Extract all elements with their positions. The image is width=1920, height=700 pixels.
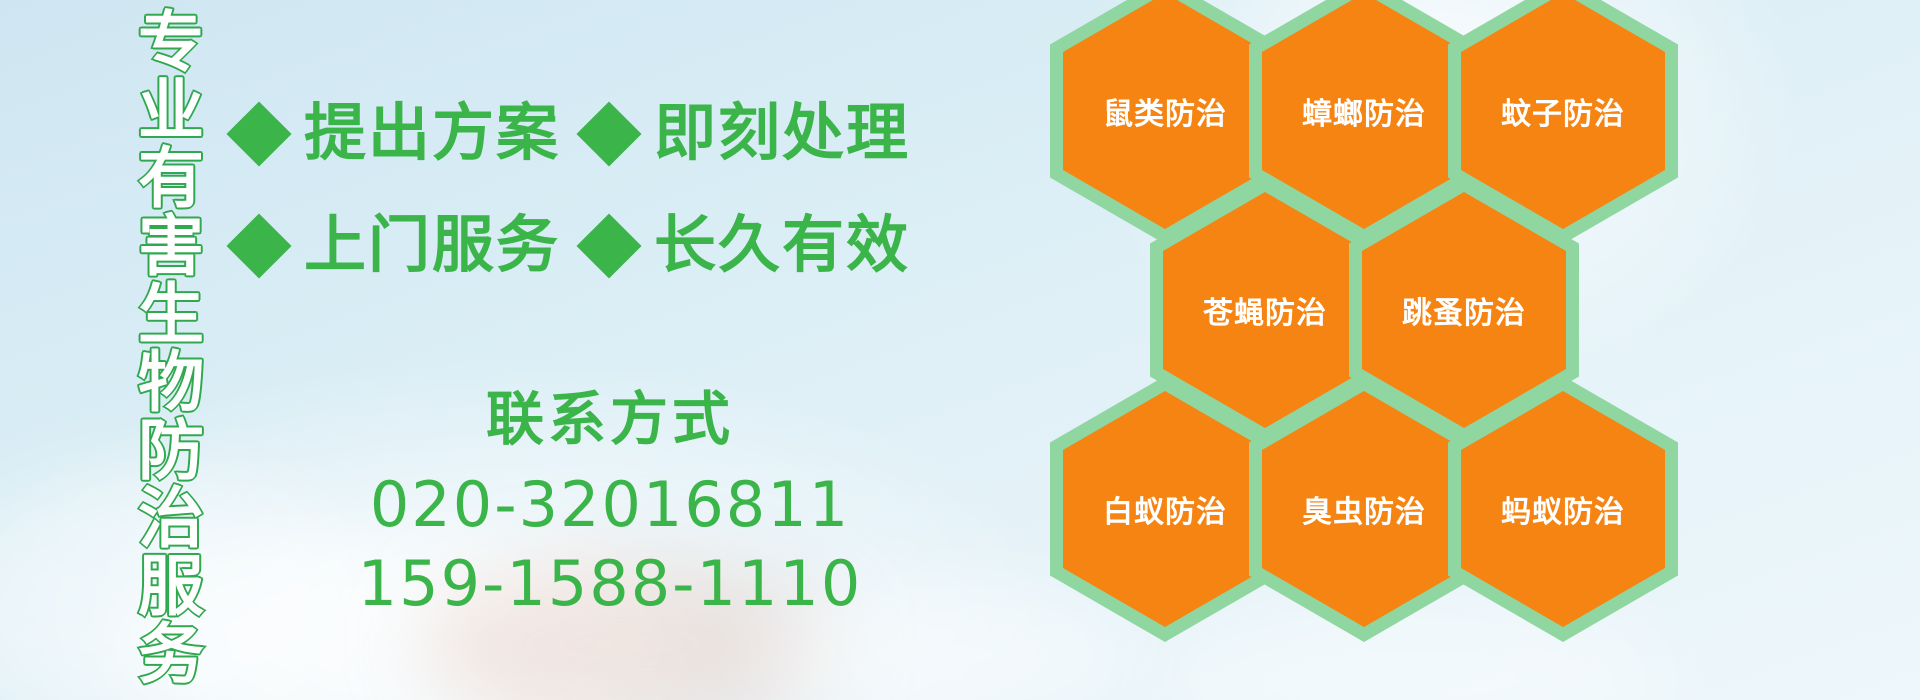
service-label: 苍蝇防治: [1203, 288, 1327, 332]
phone-number-landline[interactable]: 020-32016811: [300, 465, 920, 544]
vertical-headline-char: 害: [138, 212, 204, 280]
vertical-headline-char: 防: [138, 416, 204, 484]
feature-row: 提出方案 即刻处理: [236, 78, 896, 190]
feature-item-propose-plan: 提出方案: [236, 103, 560, 165]
feature-label: 长久有效: [654, 215, 910, 277]
feature-label: 提出方案: [304, 103, 560, 165]
service-label: 臭虫防治: [1302, 487, 1426, 531]
feature-label: 上门服务: [304, 215, 560, 277]
feature-item-onsite-service: 上门服务: [236, 215, 560, 277]
vertical-headline: 专 业 有 害 生 物 防 治 服 务: [126, 8, 216, 692]
vertical-headline-char: 有: [138, 144, 204, 212]
service-label: 蟑螂防治: [1302, 89, 1426, 133]
service-label: 鼠类防治: [1103, 89, 1227, 133]
service-label: 跳蚤防治: [1402, 288, 1526, 332]
contact-heading: 联系方式: [300, 390, 920, 451]
diamond-icon: [226, 101, 291, 166]
service-label: 蚊子防治: [1501, 89, 1625, 133]
feature-row: 上门服务 长久有效: [236, 190, 896, 302]
diamond-icon: [576, 101, 641, 166]
feature-list: 提出方案 即刻处理 上门服务 长久有效: [236, 78, 896, 302]
feature-label: 即刻处理: [654, 103, 910, 165]
pest-control-banner: 专 业 有 害 生 物 防 治 服 务 提出方案 即刻处理 上门服务: [0, 0, 1920, 700]
feature-item-long-lasting: 长久有效: [586, 215, 910, 277]
diamond-icon: [226, 213, 291, 278]
service-label: 白蚁防治: [1103, 487, 1227, 531]
feature-item-immediate-handling: 即刻处理: [586, 103, 910, 165]
diamond-icon: [576, 213, 641, 278]
vertical-headline-char: 治: [138, 484, 204, 552]
vertical-headline-char: 生: [138, 280, 204, 348]
hex-inner: 蚂蚁防治: [1461, 391, 1665, 627]
vertical-headline-char: 专: [138, 8, 204, 76]
hex-inner: 白蚁防治: [1063, 391, 1267, 627]
hex-inner: 臭虫防治: [1262, 391, 1466, 627]
service-label: 蚂蚁防治: [1501, 487, 1625, 531]
vertical-headline-char: 业: [138, 76, 204, 144]
vertical-headline-char: 物: [138, 348, 204, 416]
vertical-headline-char: 务: [138, 620, 204, 688]
service-honeycomb: 鼠类防治 蟑螂防治 蚊子防治 苍蝇防治 跳蚤防治 白蚁防治: [1050, 0, 1670, 700]
vertical-headline-char: 服: [138, 552, 204, 620]
phone-number-mobile[interactable]: 159-1588-1110: [300, 544, 920, 623]
contact-block: 联系方式 020-32016811 159-1588-1110: [300, 390, 920, 624]
